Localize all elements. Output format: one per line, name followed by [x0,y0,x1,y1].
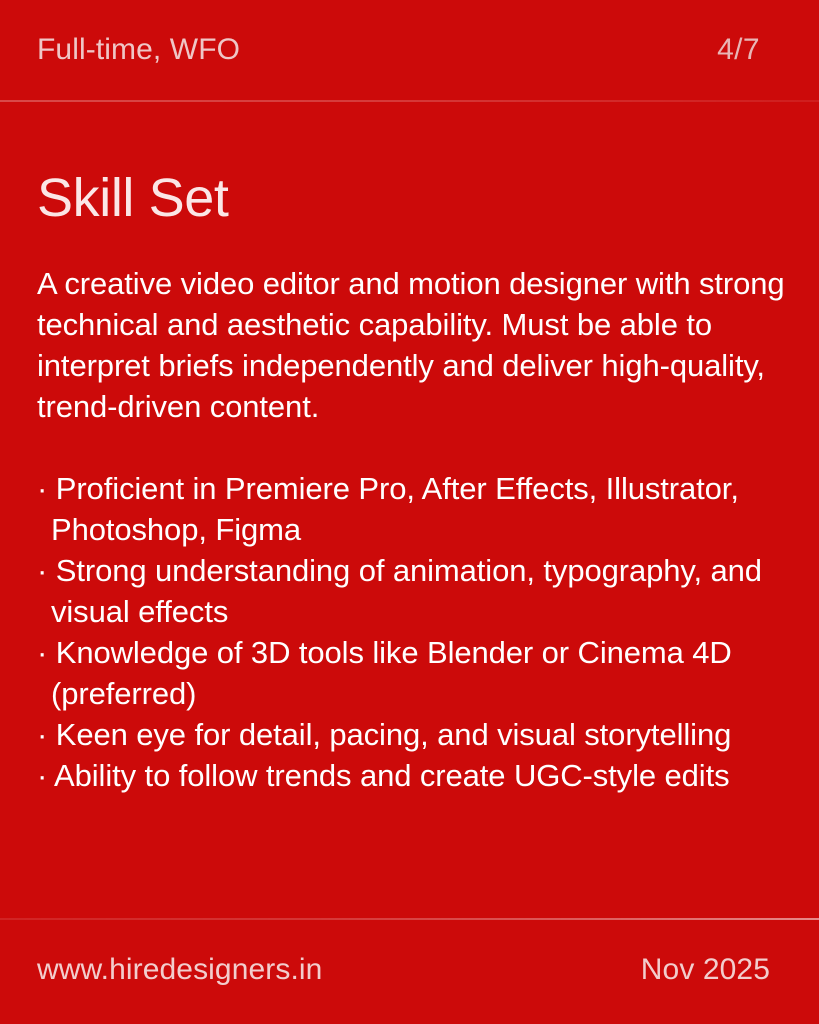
job-post-slide: Full-time, WFO 4/7 Skill Set A creative … [0,0,819,1024]
list-item-label: Keen eye for detail, pacing, and visual … [56,717,731,752]
list-item: · Ability to follow trends and create UG… [37,755,795,796]
bullet-dot-icon: · [37,717,47,752]
website-link[interactable]: www.hiredesigners.in [37,955,322,985]
page-title: Skill Set [37,100,795,227]
slide-footer: www.hiredesigners.in Nov 2025 [0,920,819,1024]
bullet-dot-icon: · [37,635,47,670]
list-item: · Keen eye for detail, pacing, and visua… [37,714,795,755]
list-item: · Strong understanding of animation, typ… [37,550,795,632]
list-item-label: Ability to follow trends and create UGC-… [54,758,729,793]
list-item-label: Strong understanding of animation, typog… [51,553,762,629]
bullet-dot-icon: · [37,553,47,588]
lead-paragraph: A creative video editor and motion desig… [37,227,795,427]
slide-counter: 4/7 [717,35,782,65]
list-item-label: Knowledge of 3D tools like Blender or Ci… [51,635,732,711]
employment-type-label: Full-time, WFO [37,35,240,65]
bullet-dot-icon: · [37,471,47,506]
list-item: · Knowledge of 3D tools like Blender or … [37,632,795,714]
publish-date-label: Nov 2025 [641,955,770,985]
slide-header: Full-time, WFO 4/7 [0,0,819,100]
bullet-dot-icon: · [37,758,47,793]
slide-content: Skill Set A creative video editor and mo… [37,100,795,920]
skills-list: · Proficient in Premiere Pro, After Effe… [37,427,795,796]
list-item-label: Proficient in Premiere Pro, After Effect… [51,471,739,547]
list-item: · Proficient in Premiere Pro, After Effe… [37,468,795,550]
